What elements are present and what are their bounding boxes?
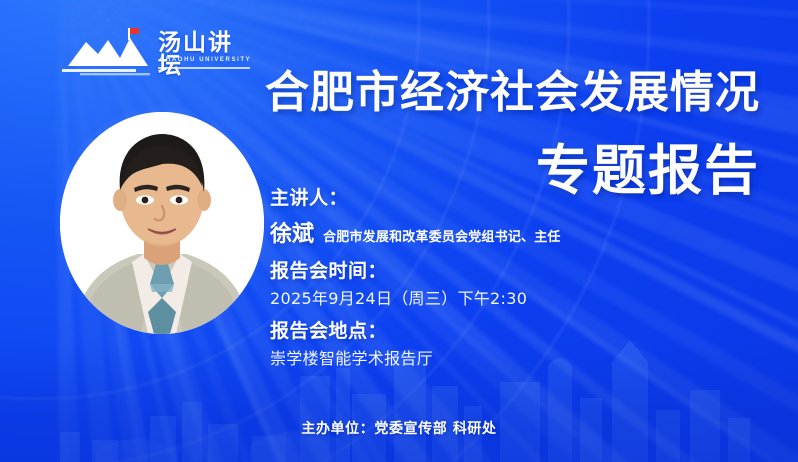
organizer-footer: 主办单位：党委宣传部 科研处 (0, 418, 798, 438)
avatar (60, 112, 264, 334)
event-poster: 汤山讲坛 CHAOHU UNIVERSITY (0, 0, 798, 462)
place-value: 崇学楼智能学术报告厅 (270, 349, 433, 368)
page-title-line2: 专题报告 (536, 126, 760, 205)
mountain-peaks-icon (62, 26, 166, 78)
speaker-title: 合肥市发展和改革委员会党组书记、主任 (323, 226, 561, 245)
logo-name-cn: 汤山讲坛 (158, 32, 252, 78)
chaohu-university-logo: 汤山讲坛 CHAOHU UNIVERSITY (62, 22, 252, 80)
page-title-line1: 合肥市经济社会发展情况 (265, 56, 760, 120)
speaker-row: 徐斌 合肥市发展和改革委员会党组书记、主任 (270, 216, 561, 248)
red-flag-icon (130, 28, 139, 34)
logo-name-en: CHAOHU UNIVERSITY (160, 57, 251, 63)
logo-underline (158, 67, 250, 69)
speaker-portrait-frame (60, 112, 264, 334)
time-label: 报告会时间： (270, 261, 387, 282)
time-value: 2025年9月24日（周三）下午2:30 (270, 289, 527, 308)
speaker-label: 主讲人： (270, 188, 348, 209)
place-label: 报告会地点： (270, 321, 387, 342)
speaker-name: 徐斌 (270, 216, 314, 248)
